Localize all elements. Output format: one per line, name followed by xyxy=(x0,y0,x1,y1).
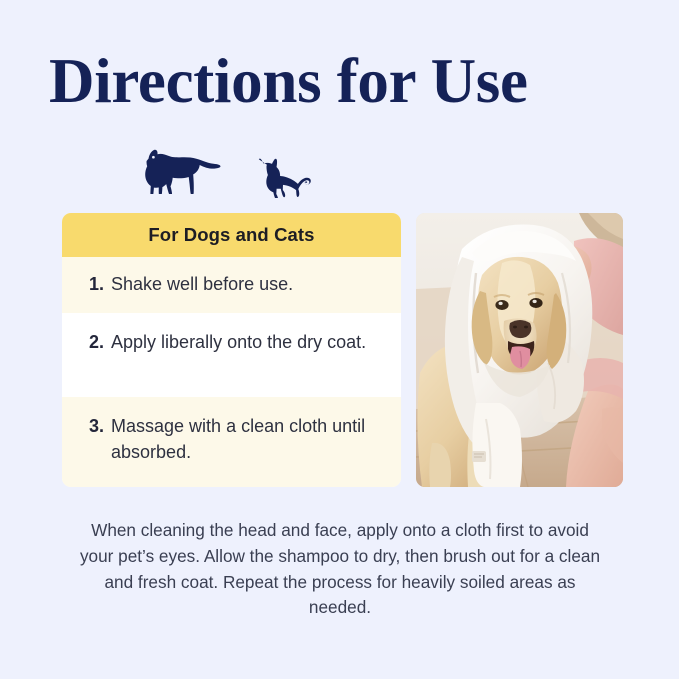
instructions-card: For Dogs and Cats 1. Shake well before u… xyxy=(62,213,401,487)
step-text: Massage with a clean cloth until absorbe… xyxy=(111,414,379,465)
animal-silhouette-row xyxy=(140,146,360,196)
cat-silhouette-icon xyxy=(248,158,311,198)
card-header-for-dogs-and-cats: For Dogs and Cats xyxy=(62,213,401,257)
list-item: 1. Shake well before use. xyxy=(62,257,401,313)
list-item: 3. Massage with a clean cloth until abso… xyxy=(62,397,401,487)
step-number: 1. xyxy=(89,272,104,298)
step-text: Apply liberally onto the dry coat. xyxy=(111,330,379,356)
footer-note: When cleaning the head and face, apply o… xyxy=(78,518,602,621)
page-title: Directions for Use xyxy=(49,48,528,114)
step-number: 2. xyxy=(89,330,104,356)
dog-with-towel-photo xyxy=(416,213,623,487)
list-item: 2. Apply liberally onto the dry coat. xyxy=(62,313,401,397)
steps-list: 1. Shake well before use. 2. Apply liber… xyxy=(62,257,401,487)
step-text: Shake well before use. xyxy=(111,272,379,298)
dog-silhouette-icon xyxy=(145,148,221,194)
step-number: 3. xyxy=(89,414,104,440)
directions-for-use-page: Directions for Use For Dogs and Cats 1. … xyxy=(0,0,679,679)
